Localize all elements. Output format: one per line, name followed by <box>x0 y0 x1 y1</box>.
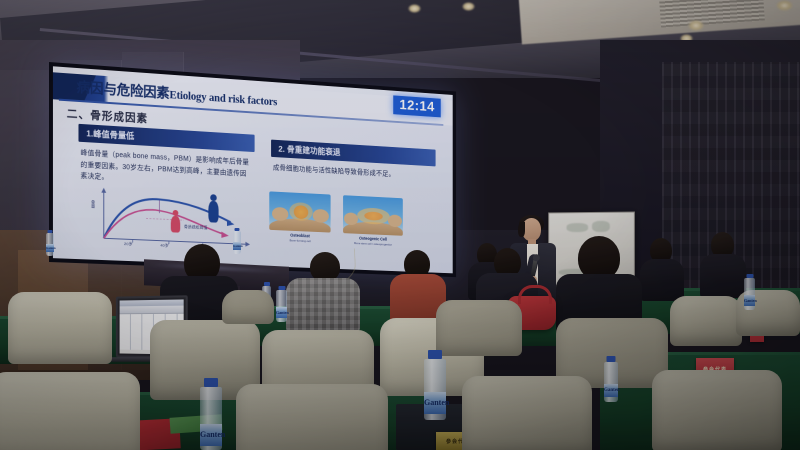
osteogenic-cell-label: Osteogenic Cell Bone stem cell / osteopr… <box>343 235 403 248</box>
water-bottle-foreground: Ganten <box>200 378 222 450</box>
bottle-cap <box>204 378 218 387</box>
chair <box>8 292 112 364</box>
male-figure-icon <box>208 194 218 224</box>
downlight-icon <box>408 4 421 13</box>
person-torso <box>700 254 746 298</box>
person-torso <box>286 278 360 332</box>
chair <box>222 290 274 324</box>
bottle-label: Ganten <box>200 424 222 446</box>
water-bottle: Ganten <box>276 286 287 322</box>
osteogenic-cell-image <box>343 195 403 236</box>
female-figure-icon <box>171 210 180 234</box>
bone-lump-left <box>344 212 358 225</box>
bottle-brand: Ganten <box>200 424 222 446</box>
bottle-brand: Ganten <box>744 295 755 306</box>
presentation-slide: 病因与危险因素Etiology and risk factors 12:14 二… <box>53 66 453 273</box>
water-bottle: Ganten <box>604 356 618 402</box>
osteoblast-label-text: Osteoblast <box>290 233 310 239</box>
bone-lump-right <box>313 209 329 223</box>
osteogenic-sublabel: Bone stem cell / osteoprogenitor <box>343 241 403 248</box>
slide-box-1: 1.峰值骨量低 峰值骨量（peak bone mass，PBM）是影响成年后骨量… <box>78 124 254 191</box>
water-bottle: Ganten <box>46 230 54 256</box>
whiteboard-marking <box>567 223 588 232</box>
bottle-label: Ganten <box>424 392 446 414</box>
osteoblast-cell-body <box>289 202 312 221</box>
chart-annotation: 骨质疏松阈值 <box>184 224 208 231</box>
chair-foreground <box>462 376 592 450</box>
bottle-brand: Ganten <box>46 244 54 252</box>
chair-foreground <box>0 372 140 450</box>
osteogenic-label-text: Osteogenic Cell <box>359 236 387 242</box>
chart-ylabel: 骨量 <box>90 200 96 209</box>
downlight-icon <box>462 2 475 11</box>
presenter-hair-side <box>518 222 525 237</box>
bottle-cap <box>428 350 442 359</box>
bottle-brand: Ganten <box>424 392 446 414</box>
slide-title-cn: 病因与危险因素 <box>77 79 170 101</box>
person-torso <box>640 259 684 301</box>
osteoblast-image <box>269 191 330 232</box>
downlight-icon <box>776 0 793 11</box>
chair <box>670 296 742 346</box>
water-bottle: Ganten <box>744 274 755 310</box>
chair <box>436 300 522 356</box>
chart-xtick-1: 20岁 <box>124 241 133 247</box>
bone-lump-left <box>272 207 288 221</box>
audience-person-back-right <box>700 232 746 292</box>
conference-room-photo: 病因与危险因素Etiology and risk factors 12:14 二… <box>0 0 800 450</box>
audience-person-back-center <box>640 238 684 296</box>
whiteboard-marking <box>592 221 610 232</box>
projection-screen: 病因与危险因素Etiology and risk factors 12:14 二… <box>49 62 456 277</box>
osteoblast-sublabel: Bone-forming cell <box>269 238 330 245</box>
slide-box-2: 2. 骨重建功能衰退 成骨细胞功能与活性缺陷导致骨形成不足。 <box>271 140 436 183</box>
bone-lump-right <box>388 214 402 227</box>
chair-foreground <box>652 370 782 450</box>
bottle-label: Ganten <box>276 307 287 318</box>
downlight-icon <box>688 20 704 31</box>
bottle-label: Ganten <box>604 384 618 397</box>
bottle-label: Ganten <box>46 244 54 252</box>
bottle-label: Ganten <box>744 295 755 306</box>
slide-clock: 12:14 <box>393 95 440 117</box>
cell-illustrations: Osteoblast Bone-forming cell Osteogenic … <box>269 191 411 253</box>
bottle-brand: Ganten <box>276 307 287 318</box>
audience-person-checkered-shirt <box>286 252 360 328</box>
osteoblast-label: Osteoblast Bone-forming cell <box>269 232 330 245</box>
chair-foreground <box>236 384 388 450</box>
bottle-brand: Ganten <box>604 384 618 397</box>
water-bottle-foreground: Ganten <box>424 350 446 420</box>
